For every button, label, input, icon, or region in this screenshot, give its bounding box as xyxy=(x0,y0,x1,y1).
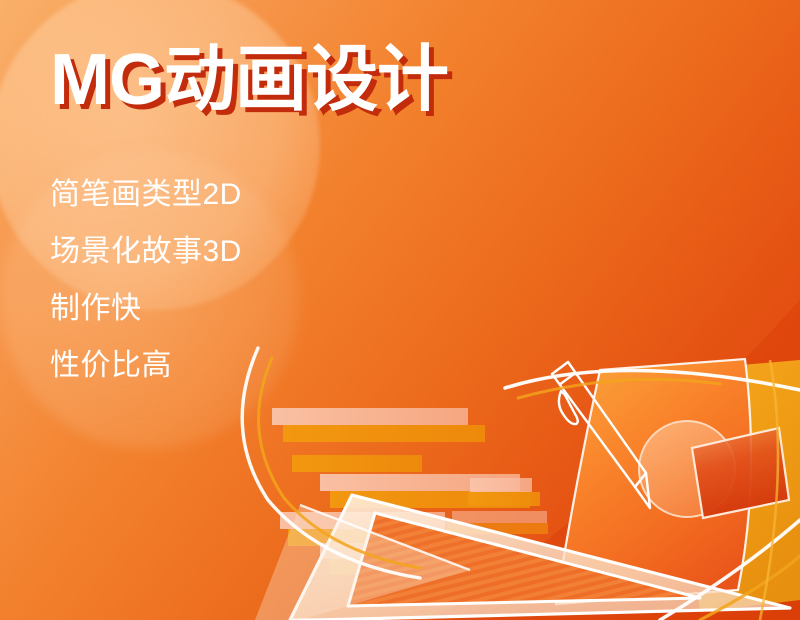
mg-animation-banner: MG动画设计 简笔画类型2D 场景化故事3D 制作快 性价比高 xyxy=(0,0,800,620)
subtitle-item-1: 简笔画类型2D xyxy=(50,180,242,210)
bar-peach xyxy=(272,408,468,425)
bar-amber xyxy=(468,492,540,506)
subtitle-item-3: 制作快 xyxy=(50,294,242,324)
page-title: MG动画设计 xyxy=(50,44,448,116)
bar-amber xyxy=(283,425,485,442)
subtitle-item-2: 场景化故事3D xyxy=(50,237,242,267)
subtitle-list: 简笔画类型2D 场景化故事3D 制作快 性价比高 xyxy=(50,180,242,408)
bar-amber xyxy=(292,455,422,472)
bar-peach xyxy=(470,478,532,492)
subtitle-item-4: 性价比高 xyxy=(50,351,242,381)
bar-peach xyxy=(452,511,547,523)
